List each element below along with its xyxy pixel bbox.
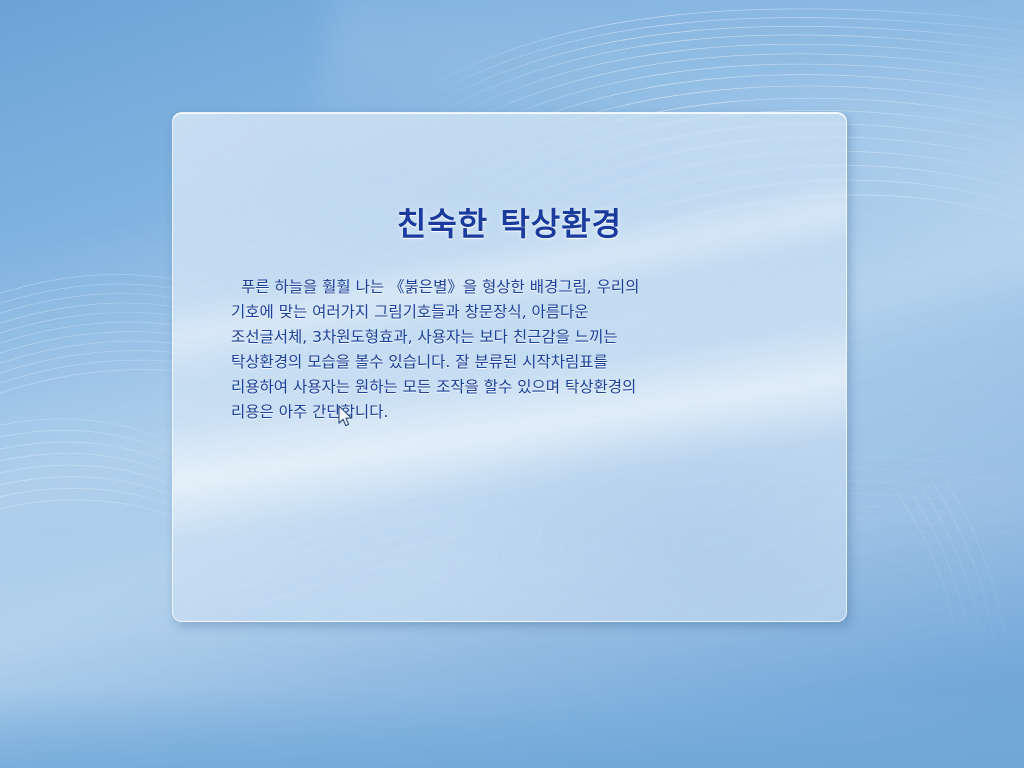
panel-title: 친숙한 탁상환경 xyxy=(173,113,846,245)
feature-slide-panel: 친숙한 탁상환경 푸른 하늘을 훨훨 나는 《붉은별》을 형상한 배경그림, 우… xyxy=(172,112,847,622)
installer-statusbar: 설치중 패키지 설치 21% xyxy=(0,688,1024,768)
panel-streak-3 xyxy=(426,413,847,622)
panel-body-line: 리용은 아주 간단합니다. xyxy=(231,400,788,425)
panel-body-line: 기호에 맞는 여러가지 그림기호들과 창문장식, 아름다운 xyxy=(231,300,788,325)
panel-body-line: 조선글서체, 3차원도형효과, 사용자는 보다 친근감을 느끼는 xyxy=(231,325,788,350)
installer-screen: 친숙한 탁상환경 푸른 하늘을 훨훨 나는 《붉은별》을 형상한 배경그림, 우… xyxy=(0,0,1024,768)
panel-body-line: 리용하여 사용자는 원하는 모든 조작을 할수 있으며 탁상환경의 xyxy=(231,375,788,400)
panel-body-line: 푸른 하늘을 훨훨 나는 《붉은별》을 형상한 배경그림, 우리의 xyxy=(231,275,788,300)
panel-body-text: 푸른 하늘을 훨훨 나는 《붉은별》을 형상한 배경그림, 우리의 기호에 맞는… xyxy=(173,245,846,425)
panel-body-line: 탁상환경의 모습을 볼수 있습니다. 잘 분류된 시작차림표를 xyxy=(231,350,788,375)
